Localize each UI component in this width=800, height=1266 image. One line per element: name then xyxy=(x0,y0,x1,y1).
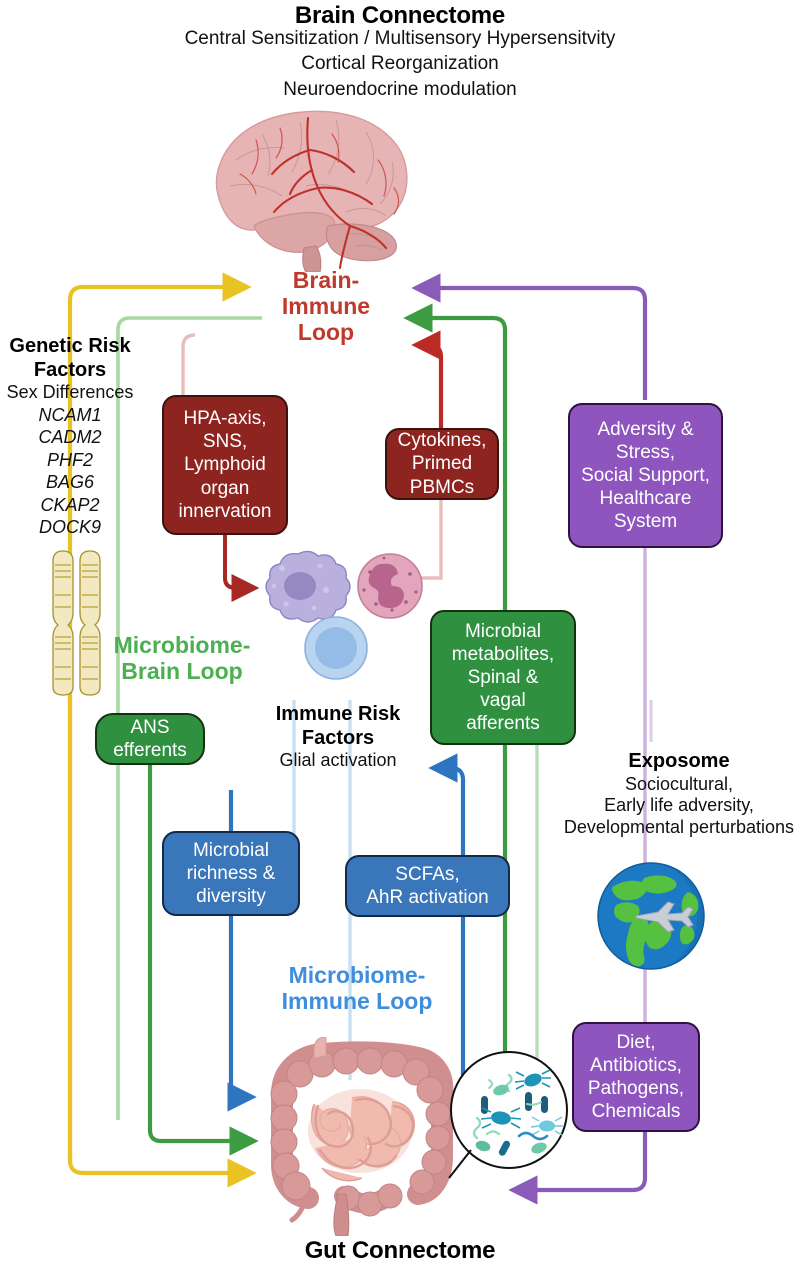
node-cytokines[interactable]: Cytokines, Primed PBMCs xyxy=(385,428,499,500)
diagram-canvas: Brain Connectome Central Sensitization /… xyxy=(0,0,800,1266)
node-cytokines-line-1: Cytokines, xyxy=(398,429,487,452)
header-subtitle-line-2: Cortical Reorganization xyxy=(0,51,800,76)
node-hpa-axis-text: HPA-axis, SNS, Lymphoid organ innervatio… xyxy=(179,407,272,523)
node-diet-line-1: Diet, xyxy=(588,1031,684,1054)
node-adversity-line-4: Healthcare xyxy=(581,487,710,510)
node-ans-efferents[interactable]: ANS efferents xyxy=(95,713,205,765)
header-subtitle: Central Sensitization / Multisensory Hyp… xyxy=(0,26,800,102)
gene-dock9: DOCK9 xyxy=(0,516,140,539)
arrow-ans-efferents-to-gut xyxy=(150,765,252,1141)
gene-bag6: BAG6 xyxy=(0,471,140,494)
node-metab-line-3: Spinal & xyxy=(452,666,554,689)
node-hpa-line-4: organ xyxy=(179,477,272,500)
node-diet-line-3: Pathogens, xyxy=(588,1077,684,1100)
node-adversity-line-1: Adversity & xyxy=(581,418,710,441)
exposome-line-3: Developmental perturbations xyxy=(555,817,800,839)
arrow-adversity-to-brain xyxy=(418,288,645,400)
node-scfas-line-2: AhR activation xyxy=(366,886,489,909)
immune-risk-subtitle: Glial activation xyxy=(248,750,428,772)
node-diet-line-4: Chemicals xyxy=(588,1100,684,1123)
node-metab-line-4: vagal xyxy=(452,689,554,712)
arrow-hpa-to-cells xyxy=(225,530,253,588)
node-hpa-axis[interactable]: HPA-axis, SNS, Lymphoid organ innervatio… xyxy=(162,395,288,535)
gut-illustration xyxy=(252,1036,462,1236)
lymphocyte-cell xyxy=(305,617,367,679)
exposome-line-1: Sociocultural, xyxy=(555,774,800,796)
node-diet-line-2: Antibiotics, xyxy=(588,1054,684,1077)
node-adversity-line-2: Stress, xyxy=(581,441,710,464)
node-microbial-richness-text: Microbial richness & diversity xyxy=(187,839,276,909)
node-diet[interactable]: Diet, Antibiotics, Pathogens, Chemicals xyxy=(572,1022,700,1132)
microbiome-brain-loop-line-1: Microbiome- xyxy=(96,633,268,659)
node-diet-text: Diet, Antibiotics, Pathogens, Chemicals xyxy=(588,1031,684,1124)
node-metab-line-1: Microbial xyxy=(452,620,554,643)
microbiome-immune-loop-label: Microbiome- Immune Loop xyxy=(262,963,452,1015)
macrophage-cell xyxy=(266,551,350,622)
node-adversity-text: Adversity & Stress, Social Support, Heal… xyxy=(581,418,710,534)
node-cytokines-line-3: PBMCs xyxy=(398,476,487,499)
microbiome-immune-loop-line-1: Microbiome- xyxy=(262,963,452,989)
gene-ncam1: NCAM1 xyxy=(0,404,140,427)
node-cytokines-text: Cytokines, Primed PBMCs xyxy=(398,429,487,499)
globe-airplane-illustration xyxy=(592,860,710,972)
node-microbial-metabolites[interactable]: Microbial metabolites, Spinal & vagal af… xyxy=(430,610,576,745)
node-microbial-metabolites-text: Microbial metabolites, Spinal & vagal af… xyxy=(452,620,554,736)
node-richness-line-2: richness & xyxy=(187,862,276,885)
neutrophil-cell xyxy=(358,554,422,618)
genetic-risk-subtitle: Sex Differences xyxy=(0,382,140,404)
brain-immune-loop-line-3: Loop xyxy=(262,320,390,346)
brain-illustration xyxy=(196,100,424,272)
exposome-block: Exposome Sociocultural, Early life adver… xyxy=(555,750,800,838)
immune-risk-title: Immune Risk Factors xyxy=(248,703,428,750)
immune-risk-factors-block: Immune Risk Factors Glial activation xyxy=(248,703,428,772)
node-richness-line-1: Microbial xyxy=(187,839,276,862)
brain-immune-loop-label: Brain- Immune Loop xyxy=(262,268,390,345)
microbiome-immune-loop-line-2: Immune Loop xyxy=(262,989,452,1015)
node-cytokines-line-2: Primed xyxy=(398,452,487,475)
genetic-risk-title: Genetic Risk Factors xyxy=(0,335,140,382)
genetic-risk-title-line-2: Factors xyxy=(0,359,140,383)
node-ans-line-1: ANS xyxy=(113,716,187,739)
node-hpa-line-2: SNS, xyxy=(179,430,272,453)
exposome-title: Exposome xyxy=(555,750,800,774)
node-hpa-line-1: HPA-axis, xyxy=(179,407,272,430)
connector-brain-to-hpa xyxy=(183,335,195,400)
node-scfas-line-1: SCFAs, xyxy=(366,863,489,886)
node-hpa-line-5: innervation xyxy=(179,500,272,523)
node-scfas-text: SCFAs, AhR activation xyxy=(366,863,489,909)
node-adversity-line-5: System xyxy=(581,510,710,533)
arrow-scfas-to-immune xyxy=(435,768,463,860)
node-adversity-line-3: Social Support, xyxy=(581,464,710,487)
node-scfas[interactable]: SCFAs, AhR activation xyxy=(345,855,510,917)
node-adversity-stress[interactable]: Adversity & Stress, Social Support, Heal… xyxy=(568,403,723,548)
gene-phf2: PHF2 xyxy=(0,449,140,472)
microbiome-brain-loop-line-2: Brain Loop xyxy=(96,659,268,685)
genetic-risk-title-line-1: Genetic Risk xyxy=(0,335,140,359)
immune-risk-title-line-1: Immune Risk xyxy=(248,703,428,727)
header-subtitle-line-3: Neuroendocrine modulation xyxy=(0,77,800,102)
node-ans-efferents-text: ANS efferents xyxy=(113,716,187,762)
node-metab-line-5: afferents xyxy=(452,712,554,735)
node-richness-line-3: diversity xyxy=(187,885,276,908)
node-microbial-richness[interactable]: Microbial richness & diversity xyxy=(162,831,300,916)
exposome-line-2: Early life adversity, xyxy=(555,795,800,817)
microbe-circle-illustration xyxy=(443,1048,579,1184)
immune-risk-title-line-2: Factors xyxy=(248,727,428,751)
gene-cadm2: CADM2 xyxy=(0,426,140,449)
arrow-genetic-to-gut xyxy=(70,700,250,1173)
immune-cells-illustration xyxy=(258,546,438,680)
brain-immune-loop-line-2: Immune xyxy=(262,294,390,320)
microbiome-brain-loop-label: Microbiome- Brain Loop xyxy=(96,633,268,685)
node-metab-line-2: metabolites, xyxy=(452,643,554,666)
header-subtitle-line-1: Central Sensitization / Multisensory Hyp… xyxy=(0,26,800,51)
footer-title: Gut Connectome xyxy=(0,1237,800,1265)
genetic-risk-factors-block: Genetic Risk Factors Sex Differences NCA… xyxy=(0,335,140,539)
node-hpa-line-3: Lymphoid xyxy=(179,453,272,476)
chromosome-pair-illustration xyxy=(45,545,111,700)
gene-ckap2: CKAP2 xyxy=(0,494,140,517)
node-ans-line-2: efferents xyxy=(113,739,187,762)
arrow-cytokines-to-brain xyxy=(418,345,441,432)
